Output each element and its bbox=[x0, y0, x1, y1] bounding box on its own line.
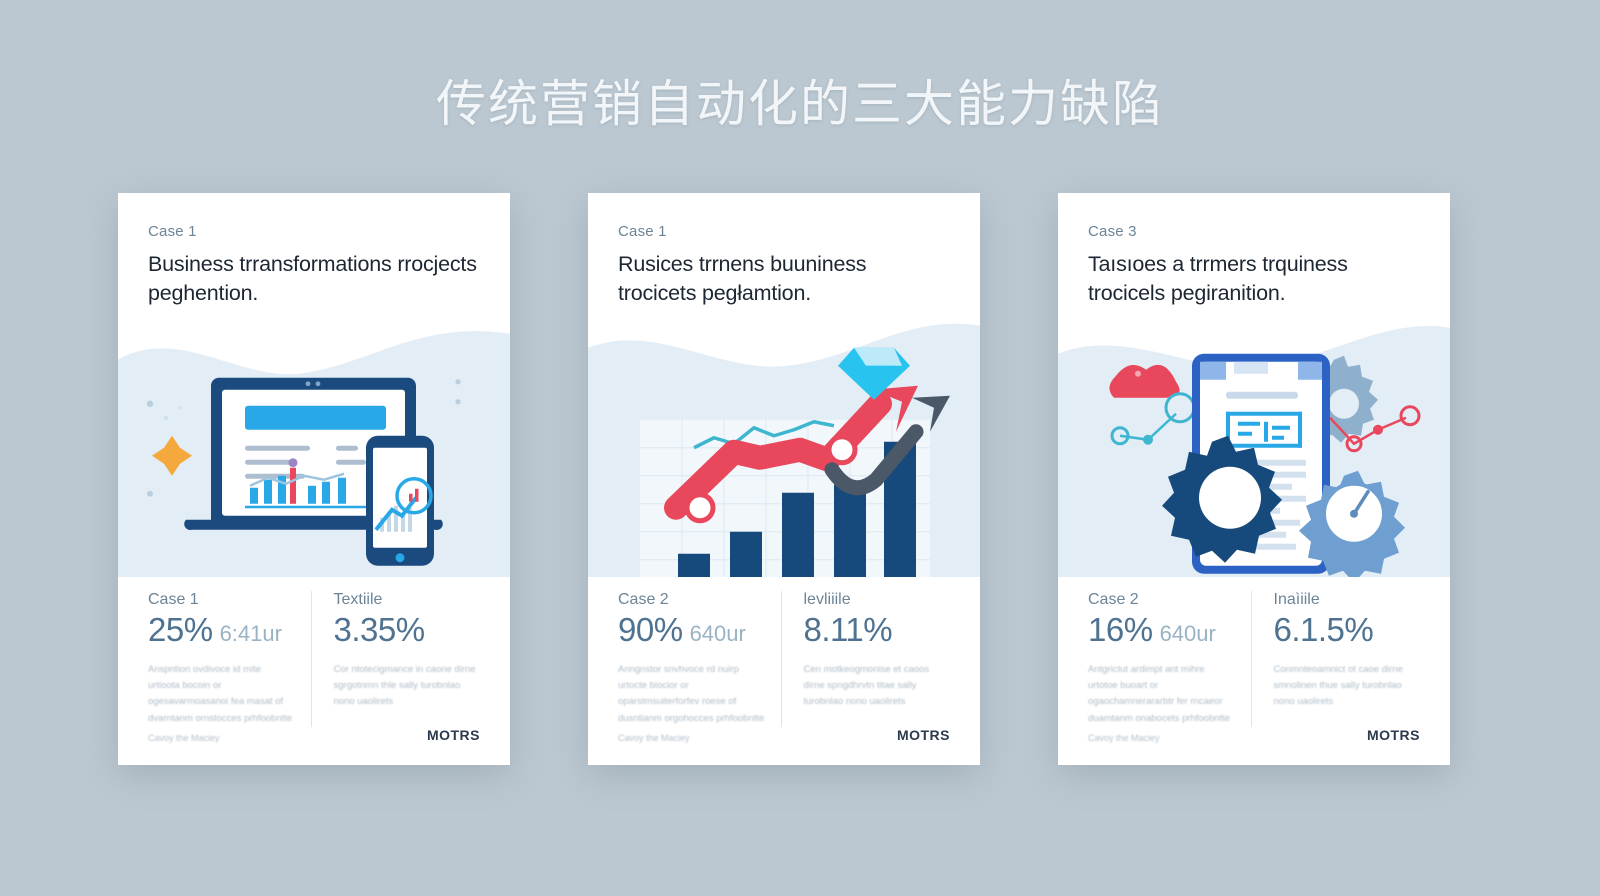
page-title: 传统营销自动化的三大能力缺陷 bbox=[0, 64, 1600, 136]
stat-block: Case 2 16% 640ur Antgrictut ardimpt ant … bbox=[1088, 591, 1251, 727]
stat-block: levliiile 8.11% Cen motkeogmonise et cao… bbox=[781, 591, 951, 727]
growth-bars-arrow-graphic bbox=[588, 321, 980, 577]
illustration-laptop-dashboard bbox=[118, 321, 510, 577]
laptop-dashboard-graphic bbox=[118, 321, 510, 577]
stat-value-row: 25% 6:41ur bbox=[148, 611, 295, 649]
illustration-document-gears bbox=[1058, 321, 1450, 577]
case-title: Taısıoes a trrmers trquiness trocicels p… bbox=[1088, 250, 1420, 307]
stat-value-row: 6.1.5% bbox=[1274, 611, 1421, 649]
case-card[interactable]: Case 1 Rusices trrnens buuniness trocice… bbox=[588, 193, 980, 765]
footer-note: Cavoy the Maciey bbox=[1088, 733, 1160, 743]
stats-row: Case 2 16% 640ur Antgrictut ardimpt ant … bbox=[1058, 577, 1450, 727]
stat-block: Inaìiile 6.1.5% Conmnteoamnict ot caoe d… bbox=[1251, 591, 1421, 727]
stat-value: 6.1.5% bbox=[1274, 611, 1374, 649]
stat-value: 3.35% bbox=[334, 611, 425, 649]
case-card[interactable]: Case 3 Taısıoes a trrmers trquiness troc… bbox=[1058, 193, 1450, 765]
stat-body-text: Conmnteoamnict ot caoe dirne smnolinen t… bbox=[1274, 662, 1421, 711]
stat-subvalue: 640ur bbox=[690, 621, 746, 647]
brand-logo: MOTRS bbox=[897, 727, 950, 743]
stat-label: Case 1 bbox=[148, 591, 295, 609]
stat-body-text: Cor ntotecigmance in caone dirne sgrgotn… bbox=[334, 662, 481, 711]
stats-row: Case 2 90% 640ur Anngnstor snvhvoce rd n… bbox=[588, 577, 980, 727]
stat-value-row: 3.35% bbox=[334, 611, 481, 649]
stat-value-row: 8.11% bbox=[804, 611, 951, 649]
stat-body-text: Cen motkeogmonise et caoos dirne spngdhr… bbox=[804, 662, 951, 711]
stat-label: Case 2 bbox=[618, 591, 765, 609]
illustration-growth-chart bbox=[588, 321, 980, 577]
brand-logo: MOTRS bbox=[1367, 727, 1420, 743]
stat-body-text: Anngnstor snvhvoce rd nuirp urtocte bioc… bbox=[618, 662, 765, 727]
stats-row: Case 1 25% 6:41ur Anspntion ovdivoce id … bbox=[118, 577, 510, 727]
stat-value-row: 90% 640ur bbox=[618, 611, 765, 649]
stat-value: 90% bbox=[618, 611, 683, 649]
stat-value: 16% bbox=[1088, 611, 1153, 649]
stat-block: Textiile 3.35% Cor ntotecigmance in caon… bbox=[311, 591, 481, 727]
stat-value: 8.11% bbox=[804, 611, 893, 649]
card-footer: Cavoy the Maciey MOTRS bbox=[118, 727, 510, 765]
case-title: Business trransformations rrocjects pegh… bbox=[148, 250, 480, 307]
card-footer: Cavoy the Maciey MOTRS bbox=[588, 727, 980, 765]
card-header: Case 1 Business trransformations rrocjec… bbox=[118, 193, 510, 307]
card-header: Case 1 Rusices trrnens buuniness trocice… bbox=[588, 193, 980, 307]
case-title: Rusices trrnens buuniness trocicets pegł… bbox=[618, 250, 950, 307]
stat-value-row: 16% 640ur bbox=[1088, 611, 1235, 649]
stat-label: levliiile bbox=[804, 591, 951, 609]
stat-body-text: Antgrictut ardimpt ant mihre urtotoe buo… bbox=[1088, 662, 1235, 727]
case-kicker: Case 1 bbox=[148, 223, 480, 240]
footer-note: Cavoy the Maciey bbox=[618, 733, 690, 743]
document-gears-gauge-graphic bbox=[1058, 321, 1450, 577]
case-kicker: Case 3 bbox=[1088, 223, 1420, 240]
stat-label: Case 2 bbox=[1088, 591, 1235, 609]
case-kicker: Case 1 bbox=[618, 223, 950, 240]
stat-label: Textiile bbox=[334, 591, 481, 609]
stat-value: 25% bbox=[148, 611, 213, 649]
case-card[interactable]: Case 1 Business trransformations rrocjec… bbox=[118, 193, 510, 765]
card-deck: Case 1 Business trransformations rrocjec… bbox=[118, 193, 1450, 765]
stat-body-text: Anspntion ovdivoce id mite urtioota boco… bbox=[148, 662, 295, 727]
stat-block: Case 2 90% 640ur Anngnstor snvhvoce rd n… bbox=[618, 591, 781, 727]
card-footer: Cavoy the Maciey MOTRS bbox=[1058, 727, 1450, 765]
footer-note: Cavoy the Maciey bbox=[148, 733, 220, 743]
brand-logo: MOTRS bbox=[427, 727, 480, 743]
stat-subvalue: 6:41ur bbox=[220, 621, 282, 647]
stat-subvalue: 640ur bbox=[1160, 621, 1216, 647]
stat-label: Inaìiile bbox=[1274, 591, 1421, 609]
stat-block: Case 1 25% 6:41ur Anspntion ovdivoce id … bbox=[148, 591, 311, 727]
card-header: Case 3 Taısıoes a trrmers trquiness troc… bbox=[1058, 193, 1450, 307]
